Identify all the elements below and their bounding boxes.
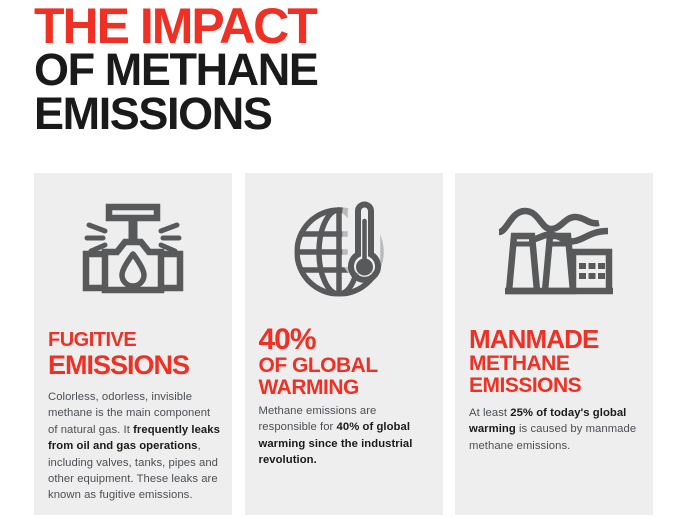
page-title-line-2: OF METHANE — [34, 48, 654, 92]
card-body-text: Colorless, odorless, invisible methane i… — [48, 389, 220, 504]
page-title-line-1: THE IMPACT — [34, 4, 654, 48]
card-heading: 40% OF GLOBAL WARMING — [259, 325, 433, 399]
factory-smokestacks-icon — [455, 195, 653, 303]
card-heading-line-3: EMISSIONS — [469, 375, 643, 397]
card-heading: FUGITIVE EMISSIONS — [48, 330, 222, 379]
card-heading-line-2: EMISSIONS — [48, 351, 222, 379]
card-heading-line-3: WARMING — [259, 377, 433, 399]
page-title: THE IMPACT OF METHANE EMISSIONS — [34, 4, 654, 136]
card-body-text: Methane emissions are responsible for 40… — [259, 403, 431, 469]
card-heading: MANMADE METHANE EMISSIONS — [469, 326, 643, 397]
globe-thermometer-icon — [245, 195, 443, 303]
page-title-line-3: EMISSIONS — [34, 92, 654, 136]
card-heading-line-2: OF GLOBAL — [259, 355, 433, 377]
card-body-text: At least 25% of today's global warming i… — [469, 405, 641, 454]
body-text-run: At least — [469, 407, 510, 419]
info-card-row: FUGITIVE EMISSIONS Colorless, odorless, … — [34, 173, 653, 515]
card-heading-line-1: FUGITIVE — [48, 330, 222, 351]
info-card-fugitive-emissions: FUGITIVE EMISSIONS Colorless, odorless, … — [34, 173, 232, 515]
card-heading-line-1: 40% — [259, 325, 433, 355]
info-card-manmade-emissions: MANMADE METHANE EMISSIONS At least 25% o… — [455, 173, 653, 515]
leaking-pipe-valve-icon — [34, 195, 232, 303]
card-heading-line-2: METHANE — [469, 353, 643, 375]
card-heading-line-1: MANMADE — [469, 326, 643, 353]
info-card-global-warming: 40% OF GLOBAL WARMING Methane emissions … — [245, 173, 443, 515]
